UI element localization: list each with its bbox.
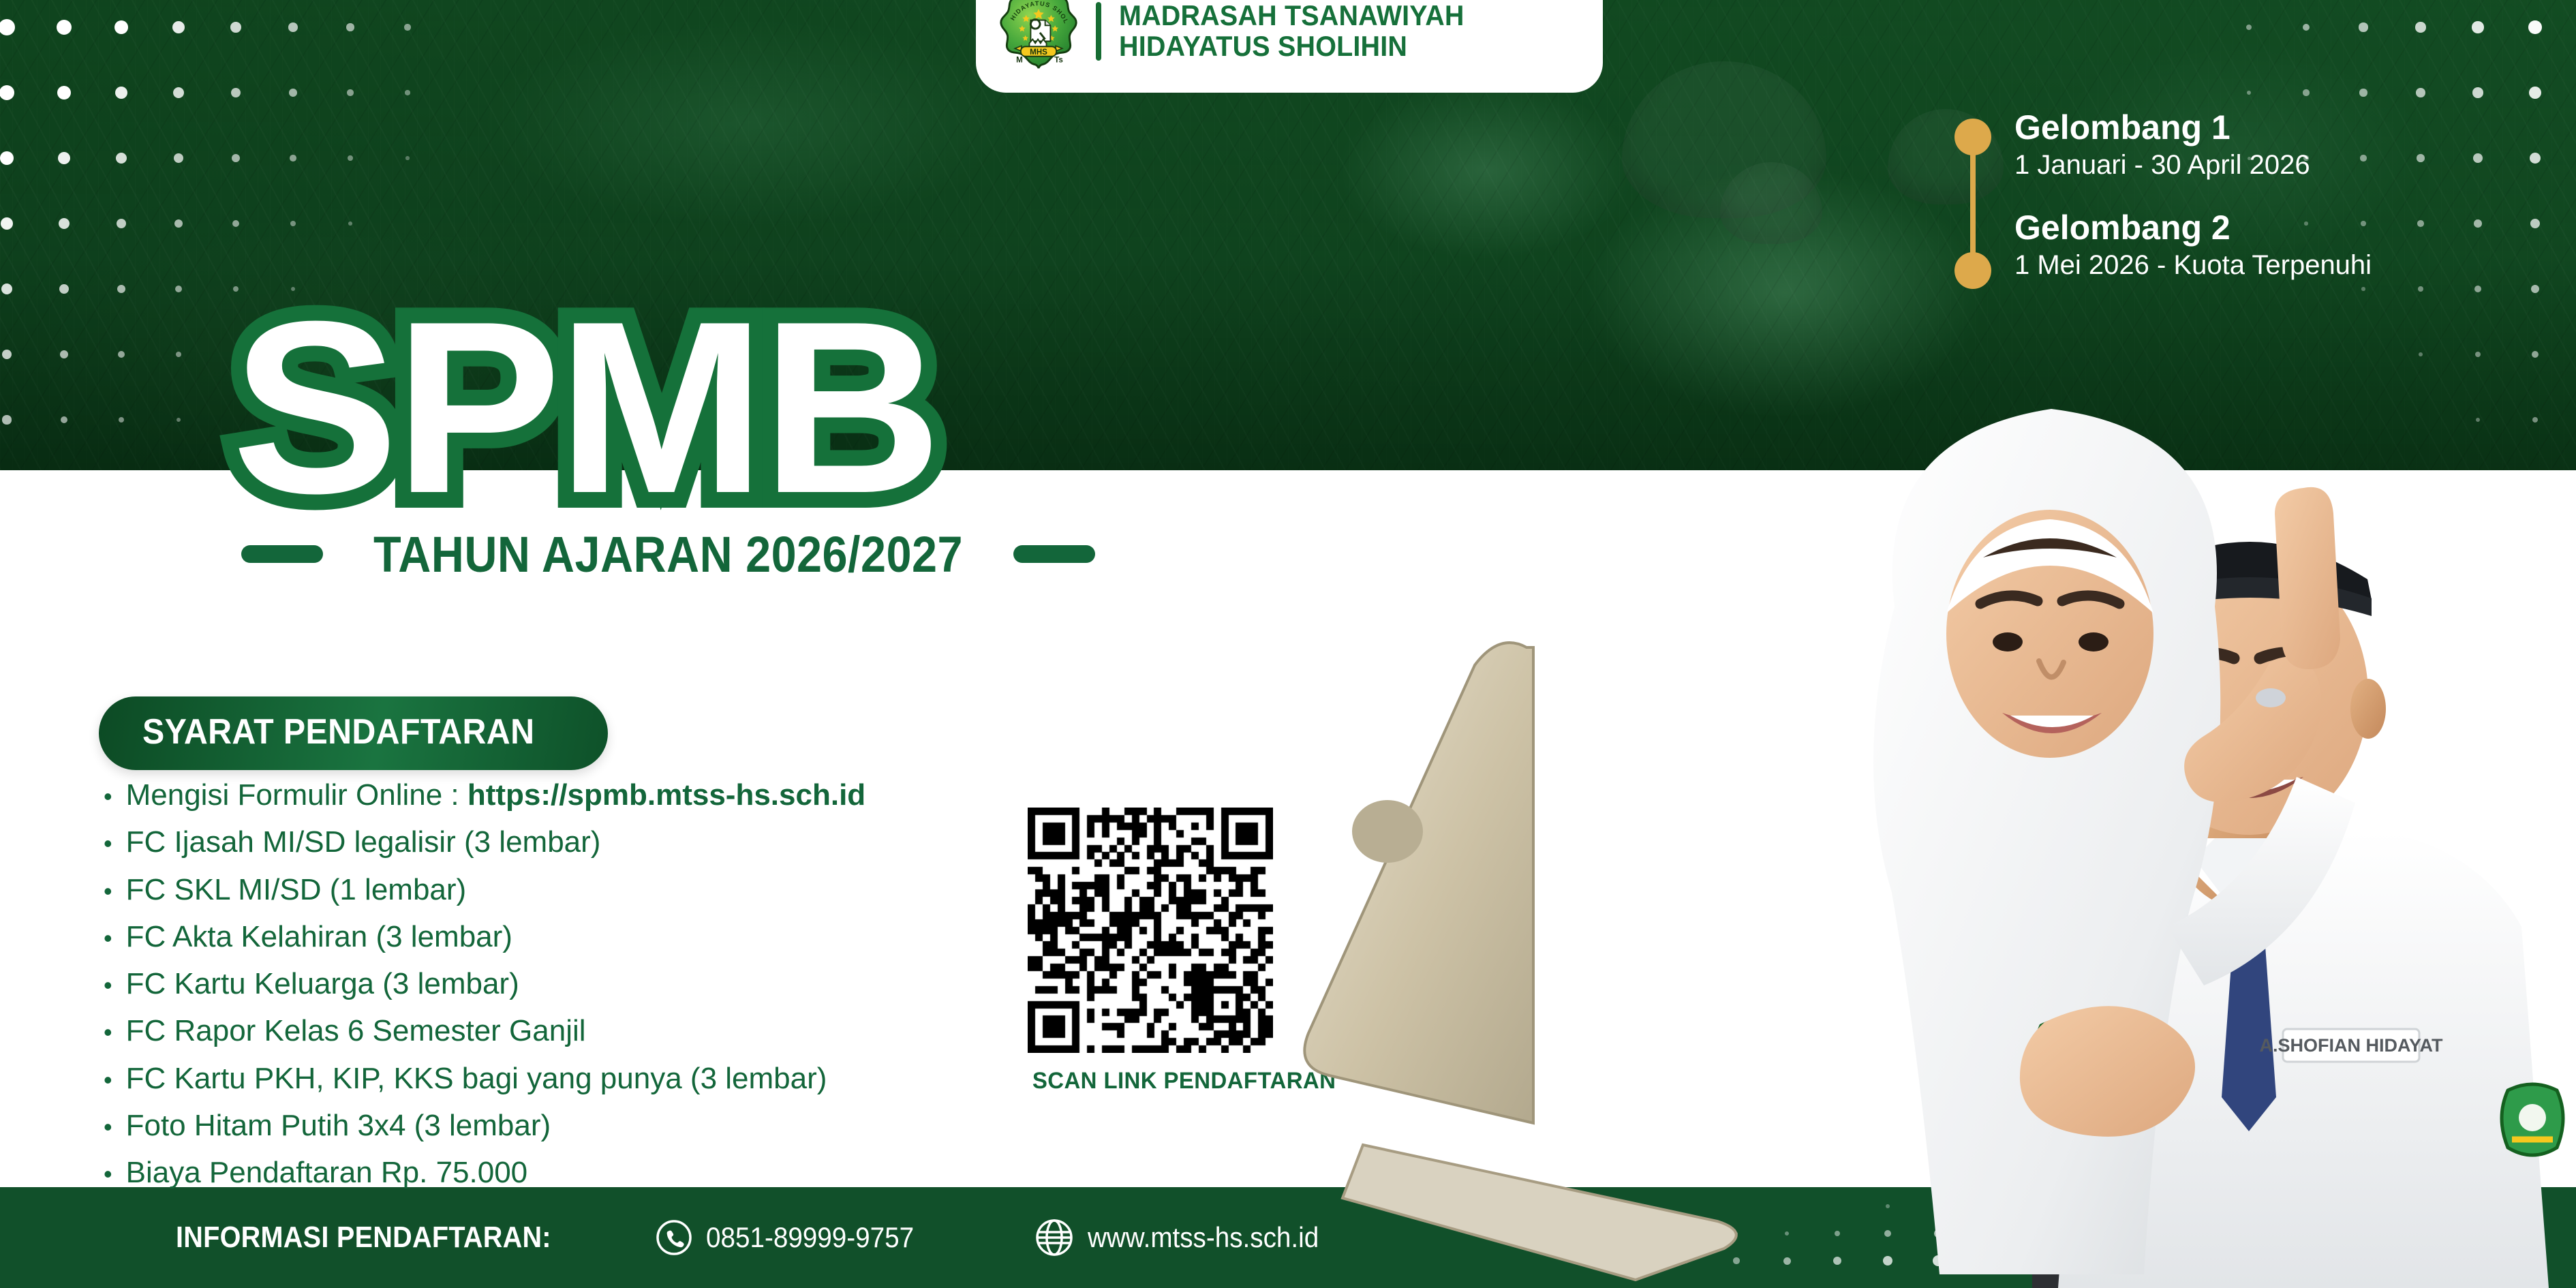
spmb-title-block: SPMB TAHUN AJARAN 2026/2027 <box>232 300 1095 583</box>
footer-phone-entry[interactable]: 0851-89999-9757 <box>656 1219 932 1256</box>
requirement-text: FC Akta Kelahiran (3 lembar) <box>126 920 512 953</box>
syarat-badge: SYARAT PENDAFTARAN <box>99 696 608 770</box>
girl-ring <box>2256 688 2286 707</box>
globe-icon <box>1034 1218 1074 1257</box>
requirement-text: FC Kartu Keluarga (3 lembar) <box>126 967 519 1000</box>
school-name-line-1: MADRASAH TSANAWIYAH <box>1119 1 1465 31</box>
bullet-icon: • <box>104 784 112 809</box>
gelombang-title: Gelombang 1 <box>2014 109 2372 147</box>
requirement-item: •FC Kartu PKH, KIP, KKS bagi yang punya … <box>104 1062 865 1095</box>
bullet-icon: • <box>104 1162 112 1186</box>
requirement-text: FC Rapor Kelas 6 Semester Ganjil <box>126 1014 586 1047</box>
timeline-track <box>1954 109 1991 282</box>
requirement-text: FC Ijasah MI/SD legalisir (3 lembar) <box>126 825 601 859</box>
school-emblem-icon: HIDAYATUS SHOLIHIN MHS M Ts <box>999 0 1078 72</box>
laptop-logo-icon <box>1352 800 1423 863</box>
requirement-text: FC SKL MI/SD (1 lembar) <box>126 873 467 906</box>
svg-text:A.SHOFIAN HIDAYAT: A.SHOFIAN HIDAYAT <box>2259 1035 2443 1056</box>
header-divider <box>1096 2 1101 61</box>
gelombang-date: 1 Mei 2026 - Kuota Terpenuhi <box>2014 248 2372 282</box>
boy-ear-right <box>2350 679 2386 739</box>
requirement-link[interactable]: https://spmb.mtss-hs.sch.id <box>467 778 865 812</box>
page-title: SPMB <box>232 300 1112 516</box>
gelombang-timeline: Gelombang 1 1 Januari - 30 April 2026 Ge… <box>1954 109 2372 282</box>
dash-right <box>1013 545 1095 563</box>
bullet-icon: • <box>104 1115 112 1139</box>
girl-eye-left <box>1993 632 2023 651</box>
timeline-marker-2 <box>1954 252 1991 289</box>
logo-left-text: M <box>1016 55 1023 64</box>
school-header-card: HIDAYATUS SHOLIHIN MHS M Ts MADRASAH TSA… <box>976 0 1603 93</box>
bullet-icon: • <box>104 1020 112 1045</box>
footer-phone-number: 0851-89999-9757 <box>706 1221 914 1254</box>
requirement-item: •FC Ijasah MI/SD legalisir (3 lembar) <box>104 825 865 859</box>
qr-code-icon[interactable] <box>1028 808 1273 1053</box>
laptop <box>1304 643 1736 1280</box>
requirement-text: FC Kartu PKH, KIP, KKS bagi yang punya (… <box>126 1062 827 1095</box>
requirement-text: Foto Hitam Putih 3x4 (3 lembar) <box>126 1109 551 1142</box>
bullet-icon: • <box>104 879 112 904</box>
logo-book-icon <box>1030 20 1050 42</box>
requirement-item: •Foto Hitam Putih 3x4 (3 lembar) <box>104 1109 865 1142</box>
dash-left <box>241 545 323 563</box>
school-name-line-2: HIDAYATUS SHOLIHIN <box>1119 31 1465 62</box>
requirement-item: •Mengisi Formulir Online : https://spmb.… <box>104 778 865 812</box>
syarat-badge-label: SYARAT PENDAFTARAN <box>142 711 534 752</box>
bullet-icon: • <box>104 973 112 998</box>
laptop-base <box>1343 1145 1736 1280</box>
footer-label: INFORMASI PENDAFTARAN: <box>176 1221 551 1255</box>
logo-ribbon-text: MHS <box>1030 48 1047 57</box>
boy-emblem-patch <box>2502 1084 2563 1155</box>
requirement-item: •Biaya Pendaftaran Rp. 75.000 <box>104 1156 865 1189</box>
girl-eye-right <box>2079 632 2109 651</box>
gelombang-title: Gelombang 2 <box>2014 209 2372 247</box>
requirement-item: •FC Rapor Kelas 6 Semester Ganjil <box>104 1014 865 1047</box>
gelombang-date: 1 Januari - 30 April 2026 <box>2014 148 2372 182</box>
academic-year-label: TAHUN AJARAN 2026/2027 <box>373 525 963 583</box>
requirement-item: •FC Kartu Keluarga (3 lembar) <box>104 967 865 1000</box>
phone-icon <box>656 1219 692 1256</box>
requirement-text: Biaya Pendaftaran Rp. 75.000 <box>126 1156 528 1189</box>
bullet-icon: • <box>104 1068 112 1092</box>
timeline-marker-1 <box>1954 119 1991 155</box>
gelombang-item: Gelombang 2 1 Mei 2026 - Kuota Terpenuhi <box>2014 209 2372 282</box>
gelombang-items: Gelombang 1 1 Januari - 30 April 2026 Ge… <box>2014 109 2372 282</box>
students-photo: A.SHOFIAN HIDAYAT <box>1281 341 2576 1288</box>
school-name: MADRASAH TSANAWIYAH HIDAYATUS SHOLIHIN <box>1119 1 1486 61</box>
logo-right-text: Ts <box>1054 55 1063 64</box>
girl-index-finger <box>2275 487 2340 669</box>
gelombang-item: Gelombang 1 1 Januari - 30 April 2026 <box>2014 109 2372 182</box>
requirement-text[interactable]: Mengisi Formulir Online : https://spmb.m… <box>126 778 866 812</box>
bullet-icon: • <box>104 926 112 951</box>
requirements-list: •Mengisi Formulir Online : https://spmb.… <box>104 778 865 1203</box>
requirement-item: •FC SKL MI/SD (1 lembar) <box>104 873 865 906</box>
bullet-icon: • <box>104 831 112 856</box>
requirement-item: •FC Akta Kelahiran (3 lembar) <box>104 920 865 953</box>
